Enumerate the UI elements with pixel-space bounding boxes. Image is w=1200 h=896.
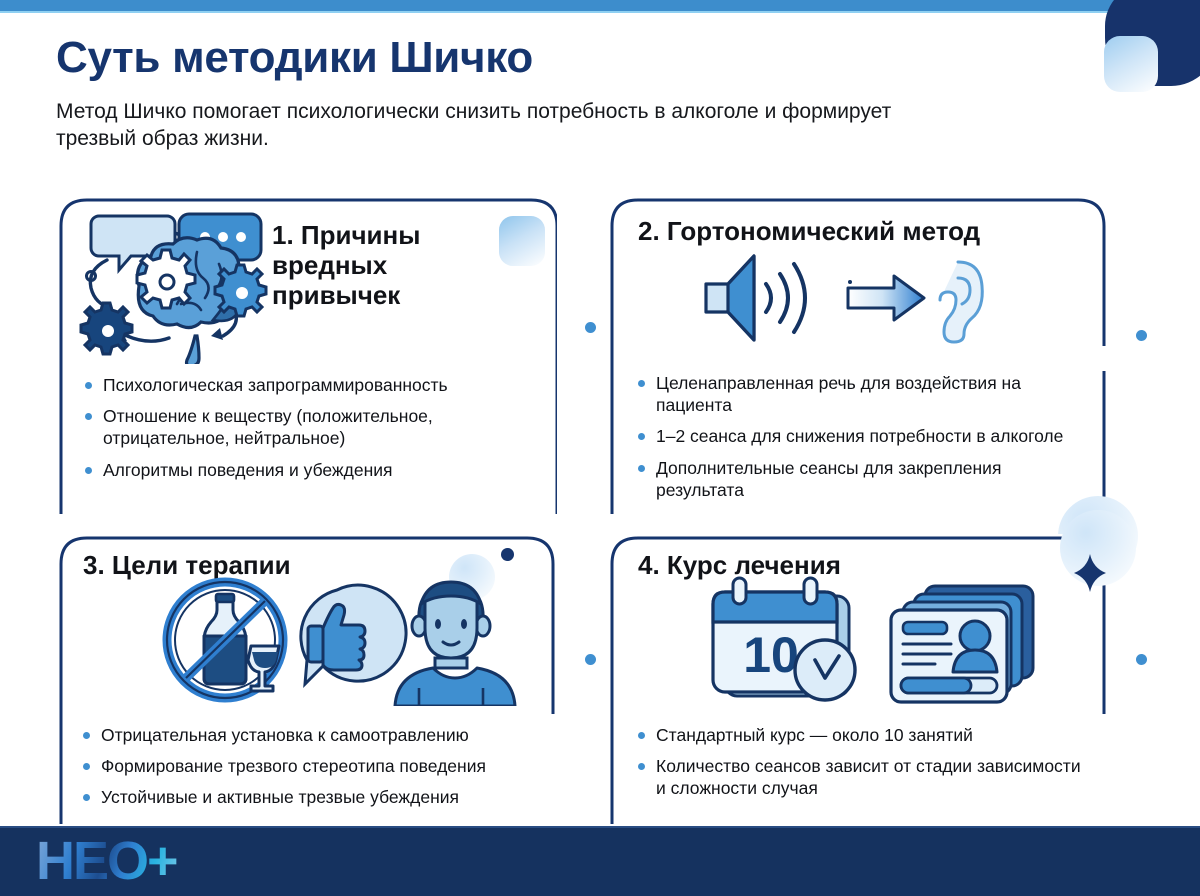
card4-dot-decoration — [1136, 654, 1147, 665]
speaker-arrow-ear-icon — [700, 248, 1000, 353]
footer: НЕО+ — [0, 826, 1200, 896]
list-item: Дополнительные сеансы для закрепления ре… — [638, 457, 1088, 501]
list-item: 1–2 сеанса для снижения потребности в ал… — [638, 425, 1088, 447]
list-item: Формирование трезвого стереотипа поведен… — [83, 755, 551, 777]
brand-logo: НЕО+ — [36, 832, 177, 890]
header: Суть методики Шичко Метод Шичко помогает… — [56, 34, 1066, 153]
card2-bullets: Целенаправленная речь для воздействия на… — [638, 372, 1088, 510]
card4-circle-decoration — [1060, 510, 1136, 586]
list-item: Отношение к веществу (положительное, отр… — [85, 405, 541, 449]
card3-navy-dot-decoration — [501, 548, 514, 561]
brain-gears-speech-icon — [77, 208, 273, 369]
page-title: Суть методики Шичко — [56, 34, 1066, 82]
top-accent-bar — [0, 0, 1200, 11]
list-item: Психологическая запрограммированность — [85, 374, 541, 396]
sparkle-icon — [1074, 554, 1106, 592]
footer-divider — [0, 826, 1200, 828]
card1-heading: 1. Причины вредных привычек — [272, 220, 522, 310]
card-goals: 3. Цели терапии — [57, 534, 557, 824]
card-course: 4. Курс лечения 10 — [608, 534, 1108, 824]
card-gortonomic: 2. Гортономический метод — [608, 196, 1108, 514]
list-item: Устойчивые и активные трезвые убеждения — [83, 786, 551, 808]
list-item: Алгоритмы поведения и убеждения — [85, 459, 541, 481]
list-item: Стандартный курс — около 10 занятий — [638, 724, 1090, 746]
list-item: Отрицательная установка к самоотравлению — [83, 724, 551, 746]
card2-heading: 2. Гортономический метод — [638, 216, 1088, 246]
infographic-page: Суть методики Шичко Метод Шичко помогает… — [0, 0, 1200, 896]
calendar-day-number: 10 — [743, 627, 799, 683]
card3-dot-decoration — [585, 654, 596, 665]
no-alcohol-thumbsup-person-icon — [157, 576, 517, 711]
light-square-decoration — [1104, 36, 1158, 92]
card4-bullets: Стандартный курс — около 10 занятий Коли… — [638, 724, 1090, 809]
top-accent-highlight — [0, 11, 1200, 13]
calendar-clock-cards-icon: 10 — [703, 574, 1043, 709]
card-causes: 1. Причины вредных привычек Психологичес… — [57, 196, 557, 514]
page-subtitle: Метод Шичко помогает психологически сниз… — [56, 98, 936, 154]
card1-bullets: Психологическая запрограммированность От… — [85, 374, 541, 490]
list-item: Целенаправленная речь для воздействия на… — [638, 372, 1088, 416]
card2-dot-decoration — [1136, 330, 1147, 341]
list-item: Количество сеансов зависит от стадии зав… — [638, 755, 1090, 799]
card3-bullets: Отрицательная установка к самоотравлению… — [83, 724, 551, 818]
card1-dot-decoration — [585, 322, 596, 333]
